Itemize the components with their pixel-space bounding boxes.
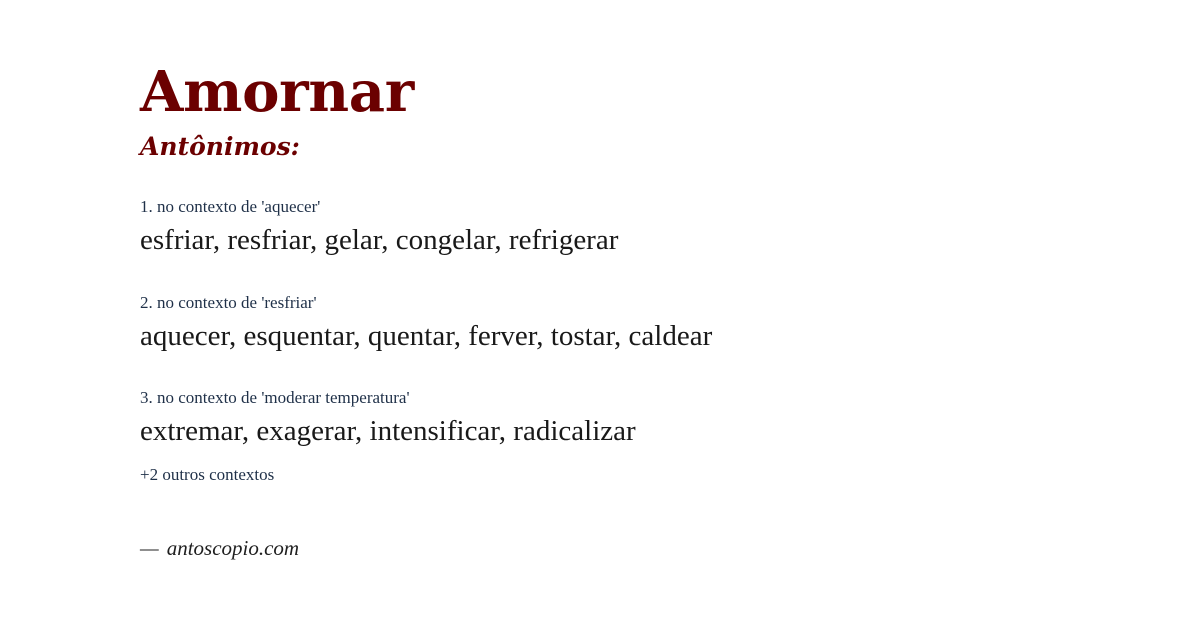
section-subtitle: Antônimos:	[140, 133, 300, 161]
sense-antonym-list: aquecer, esquentar, quentar, ferver, tos…	[140, 318, 1140, 356]
sense-entry: 2. no contexto de 'resfriar' aquecer, es…	[140, 292, 1140, 356]
sense-context-label: 3. no contexto de 'moderar temperatura'	[140, 387, 1140, 410]
antonyms-card: Amornar Antônimos: 1. no contexto de 'aq…	[0, 0, 1200, 628]
page-title: Amornar	[140, 64, 414, 121]
sense-context-label: 2. no contexto de 'resfriar'	[140, 292, 1140, 315]
sense-entry: 3. no contexto de 'moderar temperatura' …	[140, 387, 1140, 451]
sense-antonym-list: extremar, exagerar, intensificar, radica…	[140, 413, 1140, 451]
em-dash-glyph: —	[140, 536, 159, 560]
sense-antonym-list: esfriar, resfriar, gelar, congelar, refr…	[140, 222, 1140, 260]
more-contexts-note: +2 outros contextos	[140, 464, 274, 487]
sense-context-label: 1. no contexto de 'aquecer'	[140, 196, 1140, 219]
attribution: —antoscopio.com	[140, 535, 299, 562]
attribution-source: antoscopio.com	[167, 536, 299, 560]
sense-entry: 1. no contexto de 'aquecer' esfriar, res…	[140, 196, 1140, 260]
sense-list: 1. no contexto de 'aquecer' esfriar, res…	[140, 196, 1140, 451]
